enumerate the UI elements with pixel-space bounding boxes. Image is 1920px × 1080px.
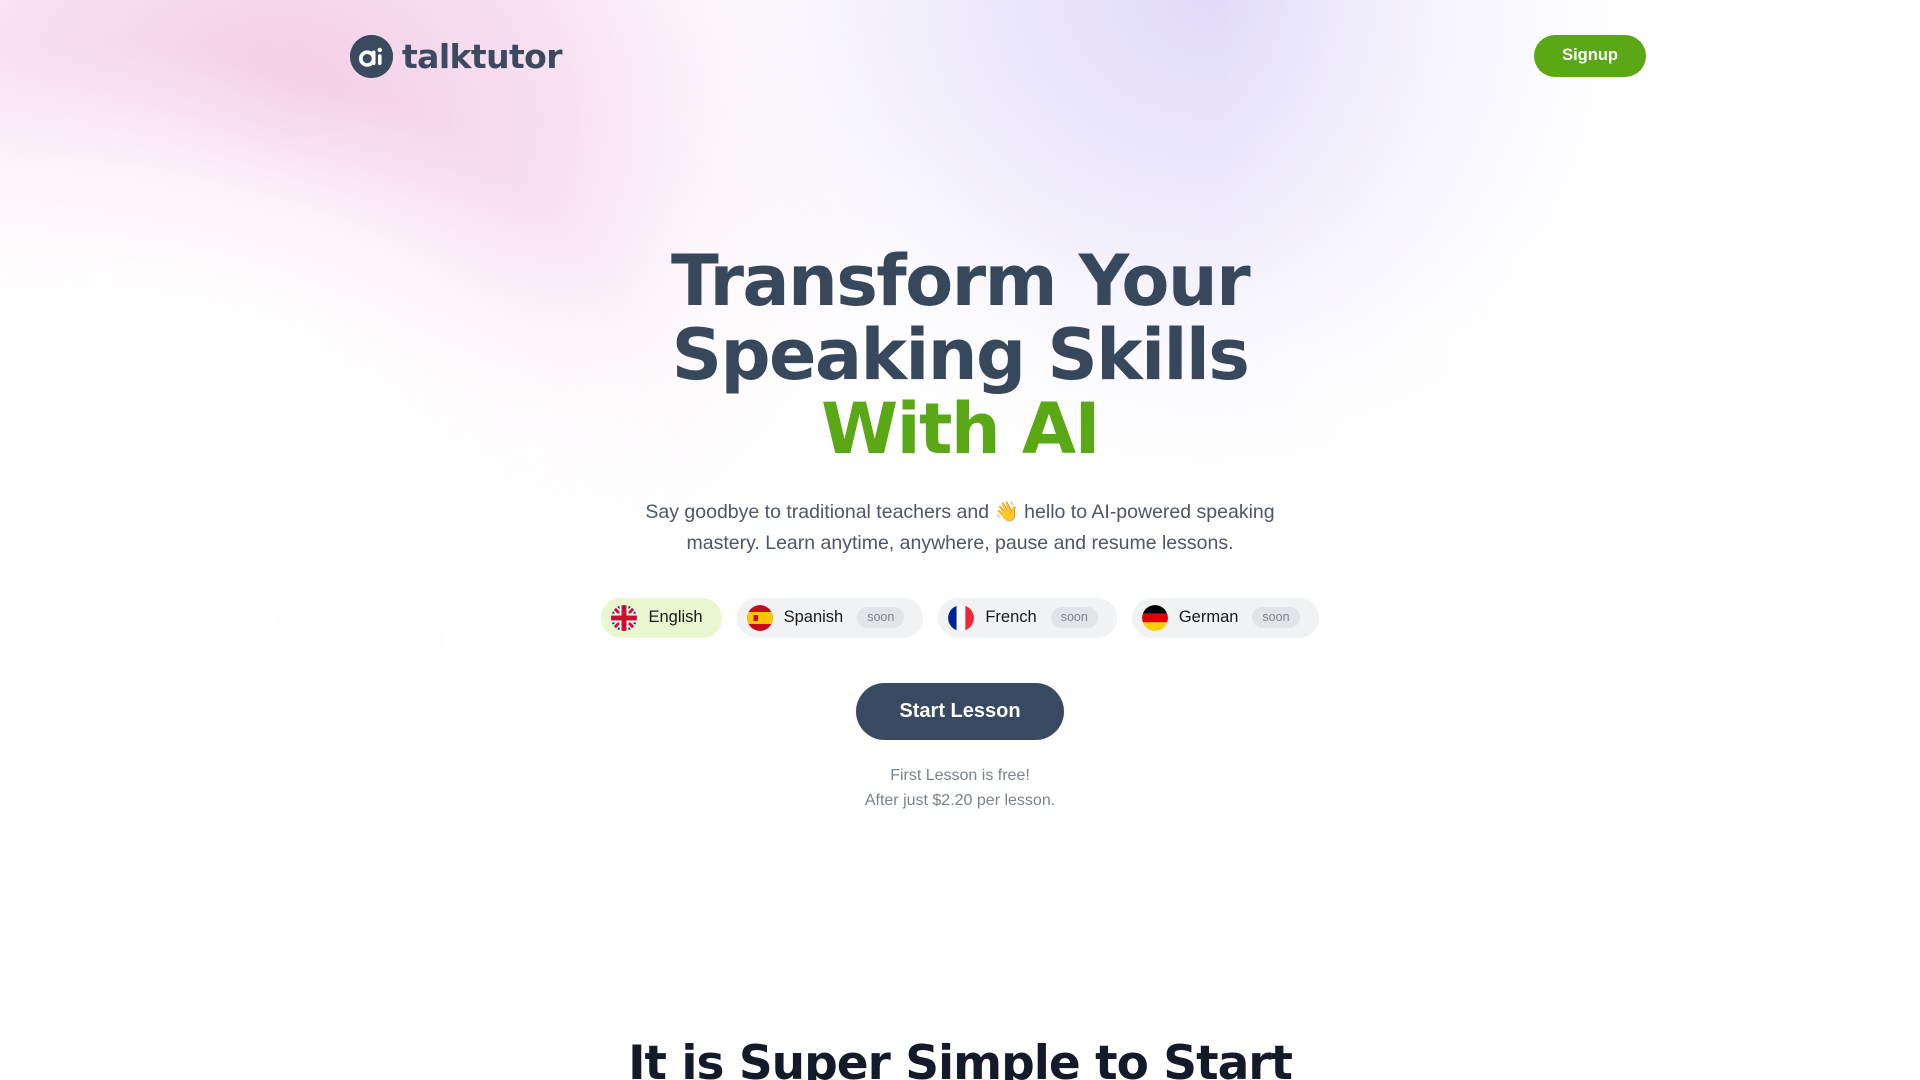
language-selector: English Spanish soon: [601, 598, 1318, 638]
language-chip-spanish[interactable]: Spanish soon: [737, 598, 924, 638]
spain-flag-icon: [747, 605, 773, 631]
pricing-note-line-2: After just $2.20 per lesson.: [865, 789, 1055, 814]
language-label: German: [1179, 609, 1239, 626]
status-badge: soon: [1252, 607, 1299, 628]
language-label: Spanish: [784, 609, 844, 626]
hero-title-line-2: Speaking Skills: [672, 314, 1249, 396]
pricing-note-line-1: First Lesson is free!: [865, 764, 1055, 789]
france-flag-icon: [948, 605, 974, 631]
hero-section: Transform Your Speaking Skills With AI S…: [0, 244, 1920, 813]
language-chip-english[interactable]: English: [601, 598, 721, 638]
section-heading-simple-to-start: It is Super Simple to Start: [0, 1036, 1920, 1080]
status-badge: soon: [857, 607, 904, 628]
status-badge: soon: [1051, 607, 1098, 628]
brand-wordmark: talktutor: [402, 40, 562, 73]
hero-title-accent: With AI: [821, 388, 1099, 470]
landing-page: talktutor Signup Transform Your Speaking…: [0, 0, 1920, 1080]
start-lesson-button[interactable]: Start Lesson: [856, 683, 1063, 740]
pricing-note: First Lesson is free! After just $2.20 p…: [865, 764, 1055, 814]
hero-subtitle: Say goodbye to traditional teachers and …: [630, 497, 1290, 560]
language-label: English: [648, 609, 702, 626]
language-chip-french[interactable]: French soon: [938, 598, 1116, 638]
uk-flag-icon: [611, 605, 637, 631]
ai-badge-icon: [350, 35, 393, 78]
site-header: talktutor Signup: [0, 0, 1920, 112]
language-chip-german[interactable]: German soon: [1132, 598, 1319, 638]
language-label: French: [985, 609, 1036, 626]
germany-flag-icon: [1142, 605, 1168, 631]
hero-title-line-1: Transform Your: [671, 240, 1249, 322]
signup-button[interactable]: Signup: [1534, 35, 1646, 77]
page-title: Transform Your Speaking Skills With AI: [671, 244, 1249, 467]
brand-logo[interactable]: talktutor: [350, 35, 562, 78]
